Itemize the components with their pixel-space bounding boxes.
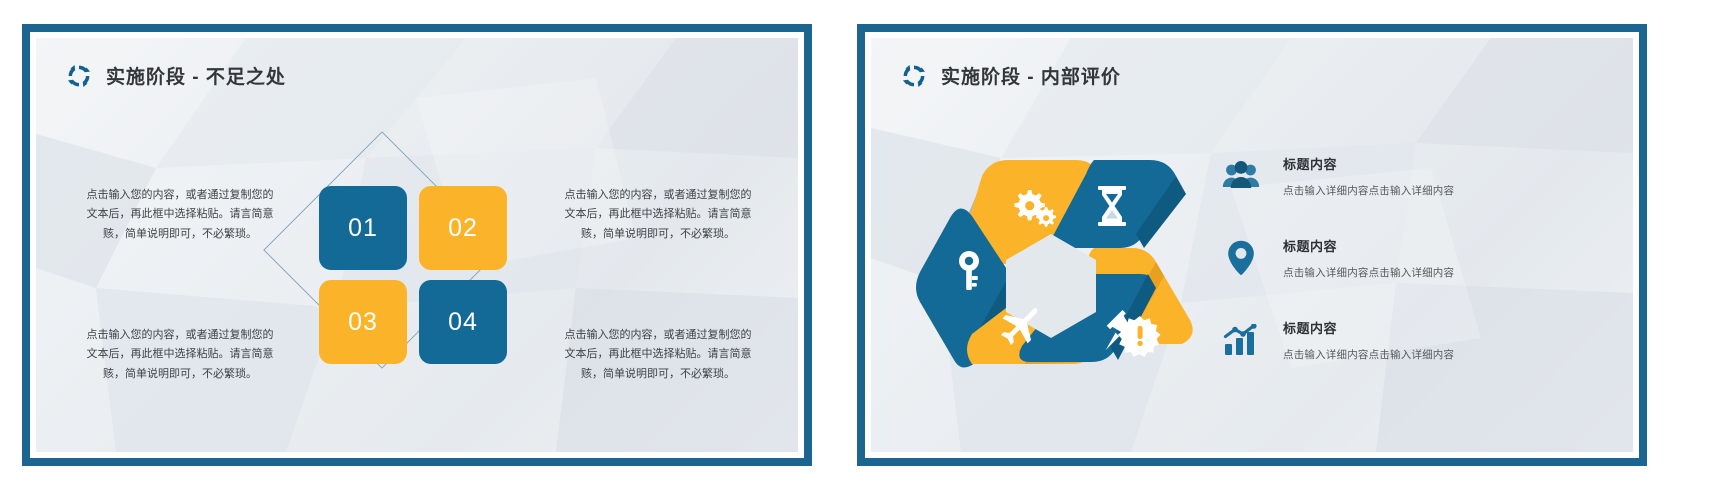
users-icon (1221, 156, 1261, 196)
location-icon (1221, 238, 1261, 278)
slide-header: 实施阶段 - 不足之处 (66, 62, 286, 89)
paragraph-bottom-right: 点击输入您的内容，或者通过复制您的文本后，再此框中选择粘贴。请言简意赅，简单说明… (564, 326, 752, 384)
number-box-grid: 01 02 03 04 (319, 186, 515, 370)
list-item[interactable]: 标题内容 点击输入详细内容点击输入详细内容 (1221, 152, 1551, 234)
list-item-body: 标题内容 点击输入详细内容点击输入详细内容 (1283, 152, 1454, 198)
deck-left-padding (0, 0, 22, 490)
page-title: 实施阶段 - 不足之处 (106, 62, 286, 89)
number-box-04[interactable]: 04 (419, 280, 507, 364)
slide-internal-evaluation-canvas: 实施阶段 - 内部评价 (871, 38, 1633, 452)
slide-header: 实施阶段 - 内部评价 (901, 62, 1121, 89)
page-title: 实施阶段 - 内部评价 (941, 62, 1121, 89)
number-box-03[interactable]: 03 (319, 280, 407, 364)
slide-deck: 实施阶段 - 不足之处 01 02 03 04 点击输入您的内容，或者通过复制您… (0, 0, 1720, 490)
list-item[interactable]: 标题内容 点击输入详细内容点击输入详细内容 (1221, 316, 1551, 398)
list-item-body: 标题内容 点击输入详细内容点击输入详细内容 (1283, 316, 1454, 362)
hexagon-diagram (906, 138, 1196, 388)
number-box-01[interactable]: 01 (319, 186, 407, 270)
paragraph-bottom-left: 点击输入您的内容，或者通过复制您的文本后，再此框中选择粘贴。请言简意赅，简单说明… (86, 326, 274, 384)
paragraph-top-left: 点击输入您的内容，或者通过复制您的文本后，再此框中选择粘贴。请言简意赅，简单说明… (86, 186, 274, 244)
deck-slide-gap (812, 0, 857, 490)
number-box-02[interactable]: 02 (419, 186, 507, 270)
list-item[interactable]: 标题内容 点击输入详细内容点击输入详细内容 (1221, 234, 1551, 316)
recycle-icon (901, 63, 927, 89)
slide-shortcomings-canvas: 实施阶段 - 不足之处 01 02 03 04 点击输入您的内容，或者通过复制您… (36, 38, 798, 452)
evaluation-list: 标题内容 点击输入详细内容点击输入详细内容 标题内容 (1221, 152, 1551, 398)
list-item-title: 标题内容 (1283, 239, 1337, 254)
slide-internal-evaluation-inner: 实施阶段 - 内部评价 (865, 32, 1639, 458)
slide-shortcomings-inner: 实施阶段 - 不足之处 01 02 03 04 点击输入您的内容，或者通过复制您… (30, 32, 804, 458)
list-item-desc: 点击输入详细内容点击输入详细内容 (1283, 183, 1454, 198)
bar-chart-icon (1221, 320, 1261, 360)
list-item-title: 标题内容 (1283, 321, 1337, 336)
list-item-body: 标题内容 点击输入详细内容点击输入详细内容 (1283, 234, 1454, 280)
list-item-desc: 点击输入详细内容点击输入详细内容 (1283, 265, 1454, 280)
recycle-icon (66, 63, 92, 89)
slide-shortcomings: 实施阶段 - 不足之处 01 02 03 04 点击输入您的内容，或者通过复制您… (22, 24, 812, 466)
paragraph-top-right: 点击输入您的内容，或者通过复制您的文本后，再此框中选择粘贴。请言简意赅，简单说明… (564, 186, 752, 244)
list-item-title: 标题内容 (1283, 157, 1337, 172)
list-item-desc: 点击输入详细内容点击输入详细内容 (1283, 347, 1454, 362)
slide-internal-evaluation: 实施阶段 - 内部评价 (857, 24, 1647, 466)
